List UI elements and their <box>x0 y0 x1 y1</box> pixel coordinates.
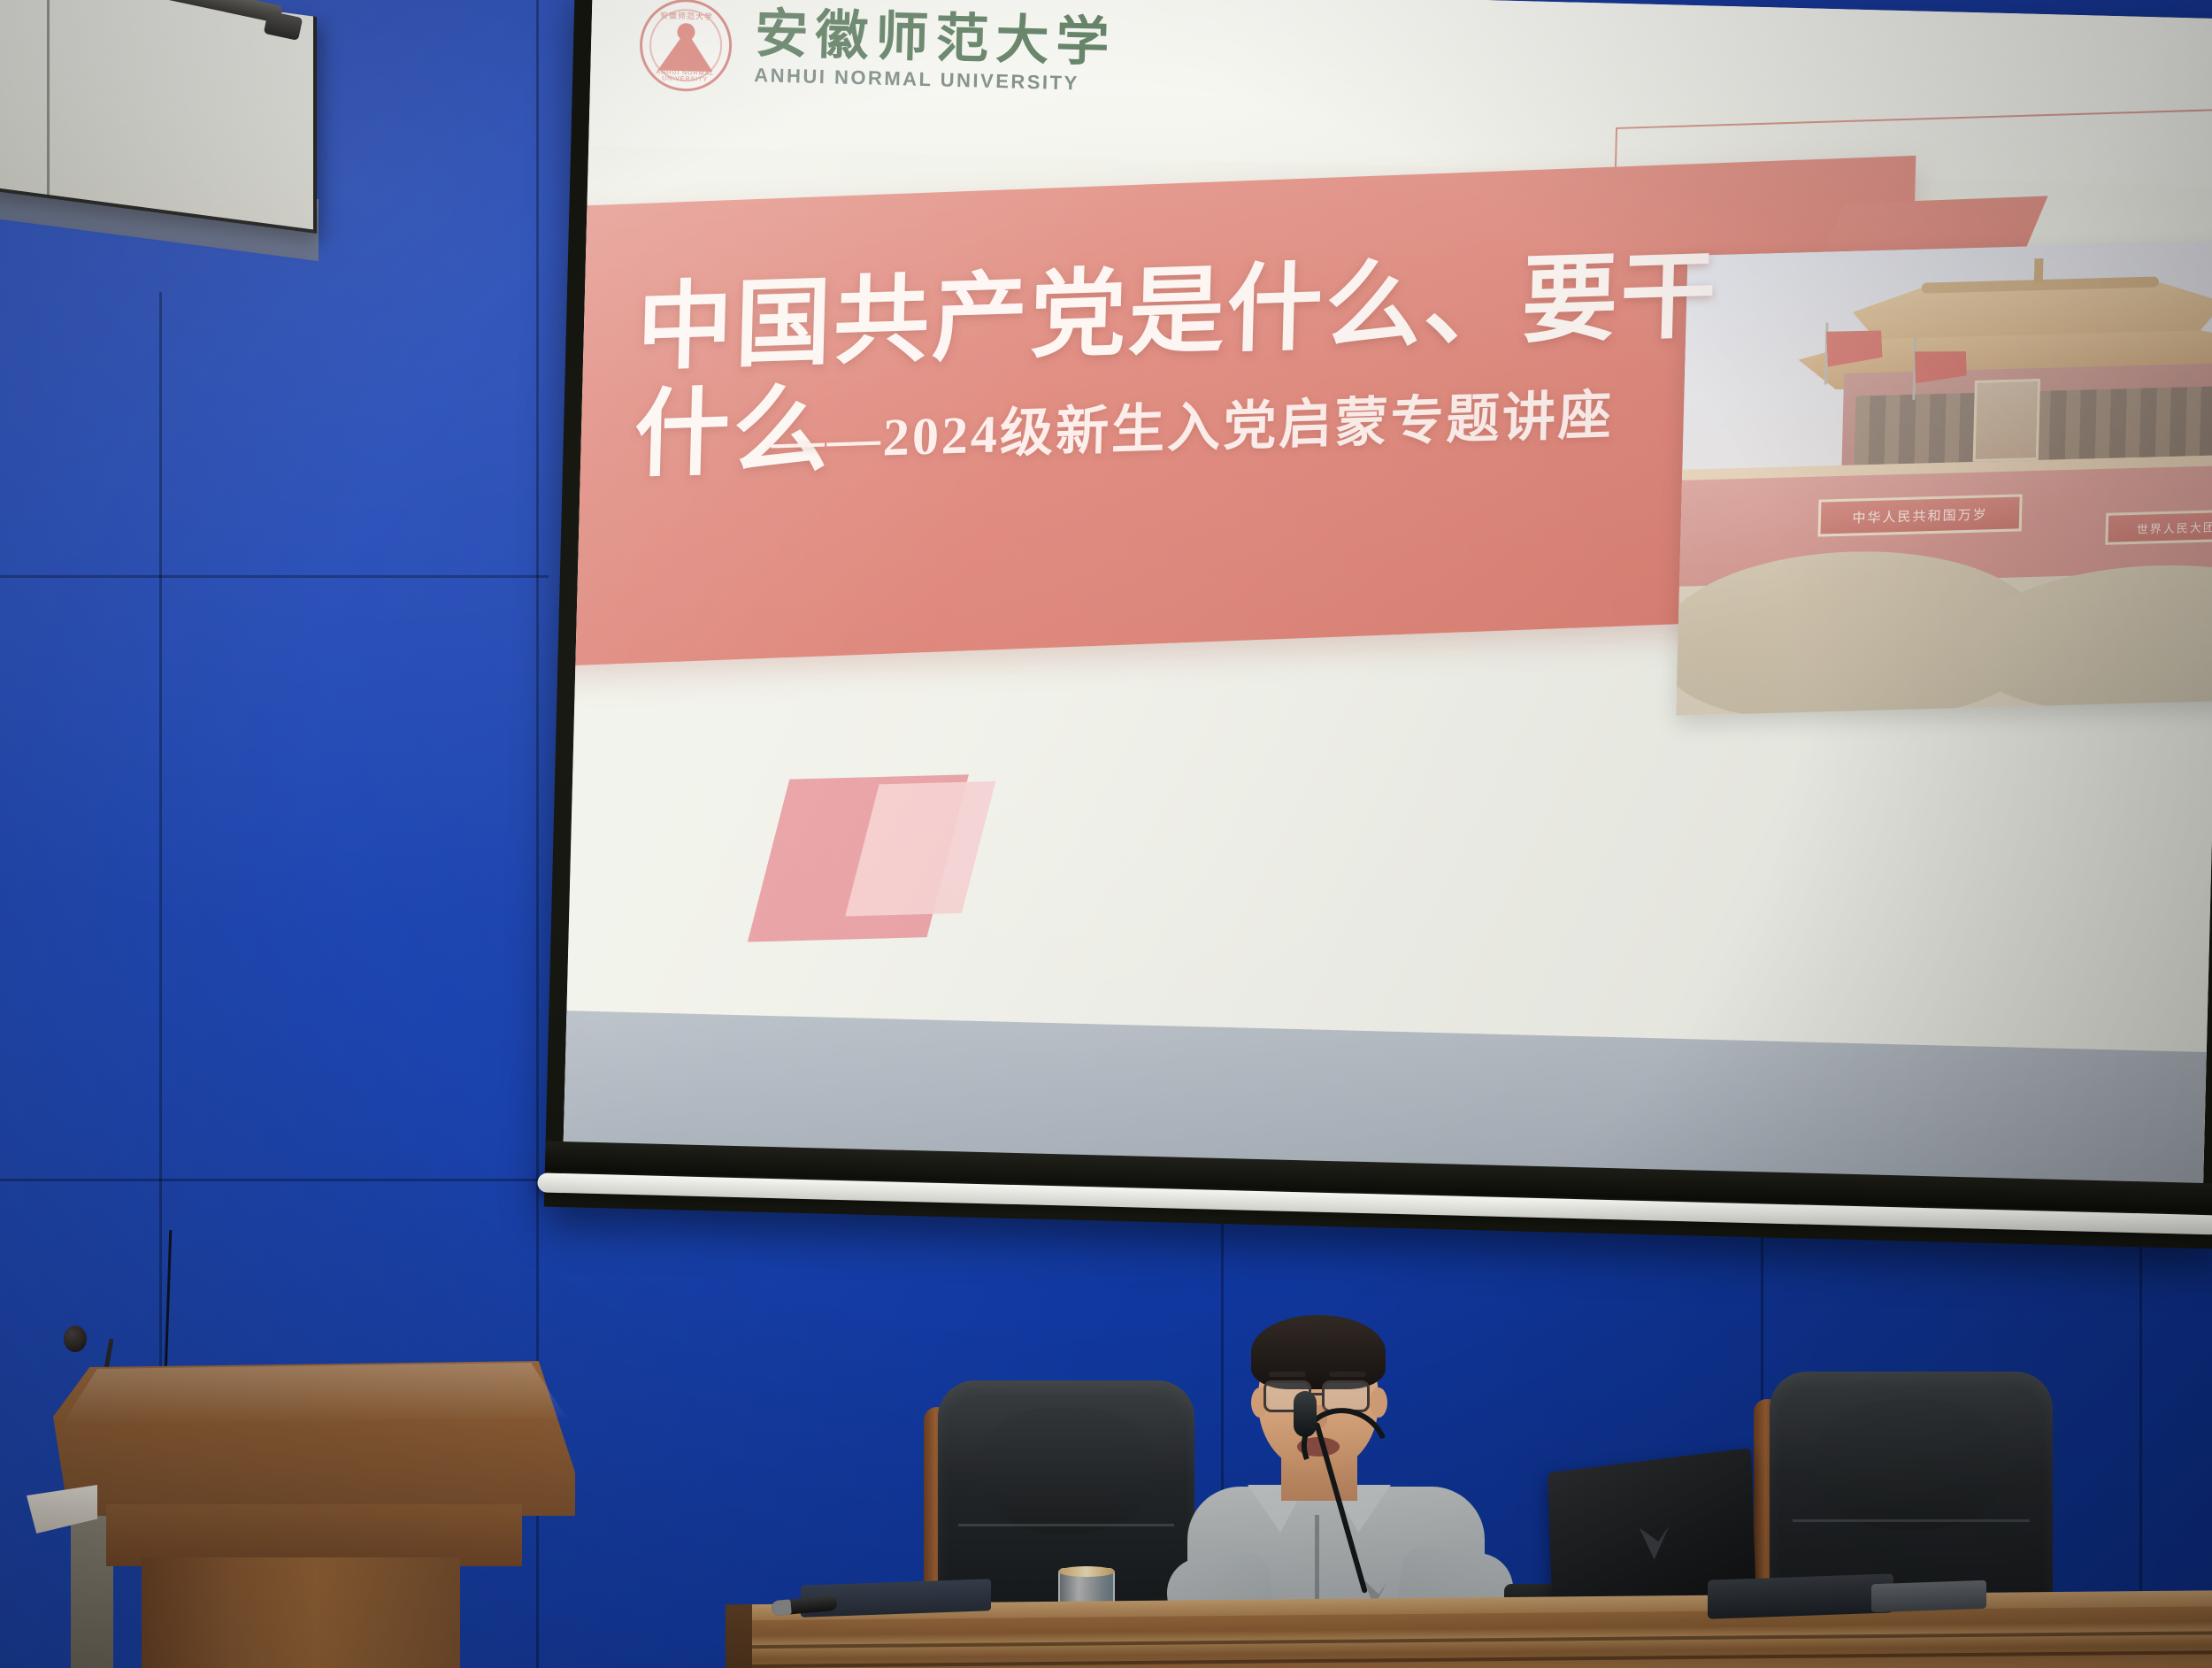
podium-column: 师大 <box>142 1557 460 1668</box>
glass-rim <box>1058 1566 1115 1577</box>
speaker-panel-seam <box>47 0 50 195</box>
equipment-on-table-secondary <box>1871 1580 1986 1613</box>
photo-wash-overlay <box>1676 236 2212 716</box>
podium-microphone-icon <box>64 1326 87 1352</box>
podium-top-highlight <box>62 1363 566 1425</box>
speaker-eyebrow-left <box>1269 1372 1306 1377</box>
university-name-cn: 安徽师范大学 <box>755 8 1117 71</box>
speaker-shirt-placket <box>1315 1515 1319 1600</box>
wooden-podium: 师大 <box>18 1336 584 1668</box>
speaker-ear-right <box>1370 1387 1387 1418</box>
university-name-block: 安徽师范大学 ANHUI NORMAL UNIVERSITY <box>754 8 1117 96</box>
speaker-hair <box>1251 1315 1386 1389</box>
university-seal-icon: 安徽师范大学 ANHUI NORMAL UNIVERSITY <box>639 0 733 92</box>
chair-headrest <box>979 1407 1153 1534</box>
projection-screen: 安徽师范大学 ANHUI NORMAL UNIVERSITY 安徽师范大学 AN… <box>544 0 2212 1249</box>
desk-microphone-icon <box>1294 1391 1317 1437</box>
seal-top-text: 安徽师范大学 <box>643 9 730 22</box>
equipment-on-table <box>1708 1573 1893 1618</box>
tiananmen-photo: 中华人民共和国万岁 世界人民大团结万岁 <box>1676 236 2212 716</box>
pen-cap <box>771 1599 791 1616</box>
lecture-hall-photo: 安徽师范大学 ANHUI NORMAL UNIVERSITY 安徽师范大学 AN… <box>0 0 2212 1668</box>
wall-seam-horizontal <box>0 575 549 578</box>
screen-surface: 安徽师范大学 ANHUI NORMAL UNIVERSITY 安徽师范大学 AN… <box>564 0 2212 1185</box>
speaker-eyebrow-right <box>1329 1372 1366 1377</box>
seal-mountain-shape <box>657 29 713 72</box>
presentation-slide: 安徽师范大学 ANHUI NORMAL UNIVERSITY 安徽师范大学 AN… <box>564 0 2212 1185</box>
university-logo-row: 安徽师范大学 ANHUI NORMAL UNIVERSITY 安徽师范大学 AN… <box>639 0 1117 102</box>
seal-bottom-text: ANHUI NORMAL UNIVERSITY <box>641 69 728 83</box>
chair-headrest <box>1815 1399 2008 1531</box>
